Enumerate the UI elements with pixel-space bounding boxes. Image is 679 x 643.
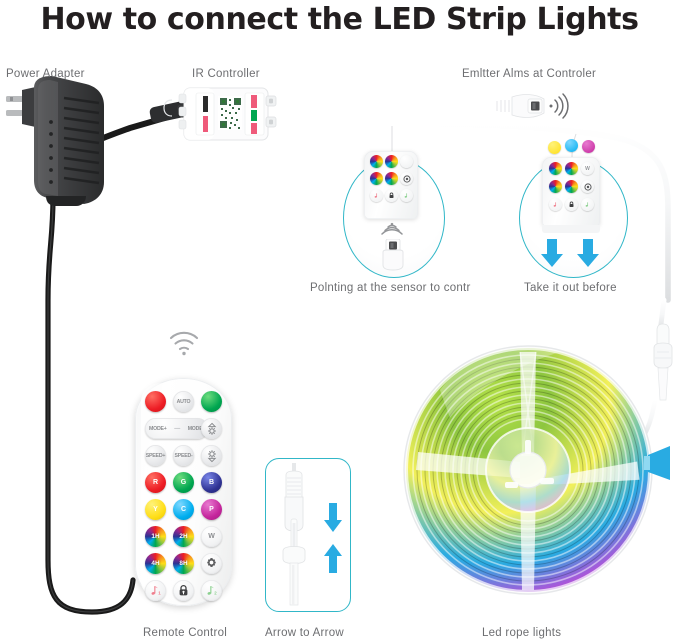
music-2-icon: 2: [205, 584, 218, 597]
ir-receiver-connector-graphic: [497, 94, 568, 118]
timer-2h-button[interactable]: 2H: [173, 526, 194, 547]
mode-pill[interactable]: MODE+ — MODE-: [145, 418, 208, 439]
svg-text:1: 1: [158, 591, 161, 596]
timer-8h-mini: [565, 180, 578, 193]
brightness-down-icon: [205, 449, 219, 463]
timer-8h-mini: [385, 172, 398, 185]
qr-code: [218, 96, 242, 130]
lock-button[interactable]: [173, 580, 194, 601]
settings-button[interactable]: [201, 553, 222, 574]
timer-4h-mini: [370, 172, 383, 185]
lock-icon: [568, 201, 575, 208]
lock-icon: [177, 584, 190, 597]
color-red-button[interactable]: R: [145, 472, 166, 493]
settings-mini: [581, 180, 594, 193]
ir-controller-graphic: [164, 88, 276, 140]
timer-1h-button[interactable]: 1H: [145, 526, 166, 547]
remote-control[interactable]: AUTO MODE+ — MODE- SPEED+ SPEED-: [135, 378, 232, 606]
ir-wave-icon: [380, 221, 404, 239]
label-led-rope-lights: Led rope lights: [482, 627, 561, 639]
music-1-icon: 1: [149, 584, 162, 597]
color-purple-button[interactable]: P: [201, 499, 222, 520]
timer-8h-button[interactable]: 8H: [173, 553, 194, 574]
speed-minus-button[interactable]: SPEED-: [173, 445, 194, 466]
settings-mini: [400, 172, 413, 185]
label-ir-controller: IR Controller: [192, 68, 260, 80]
timer-4h-button[interactable]: 4H: [145, 553, 166, 574]
auto-button[interactable]: AUTO: [173, 391, 194, 412]
label-take-it-out: Take it out before: [524, 282, 617, 294]
mini-remote-bottom: [364, 151, 418, 219]
mode-plus-button[interactable]: MODE+: [149, 426, 167, 432]
battery-tab: [542, 225, 600, 233]
brightness-up-button[interactable]: [201, 418, 222, 439]
music-1-icon: [373, 192, 380, 199]
color-green-button[interactable]: G: [173, 472, 194, 493]
mini-remote-bottom: W: [542, 157, 600, 227]
timer-2h-mini: [565, 162, 578, 175]
svg-text:2: 2: [214, 591, 217, 596]
music-1-mini: [549, 198, 562, 211]
cable-joint-connector: [654, 324, 672, 400]
gear-icon: [403, 175, 411, 183]
down-arrows: [538, 239, 608, 269]
arrow-to-arrow-box: [265, 458, 351, 612]
timer-4h-mini: [549, 180, 562, 193]
arrow-pair: [323, 503, 343, 573]
down-arrow: [324, 503, 342, 532]
music-1-mini: [370, 189, 383, 202]
label-pointing-sensor: Polnting at the sensor to contr: [310, 282, 471, 294]
color-white-mini: [400, 155, 413, 168]
diagram-canvas: How to connect the LED Strip Lights: [0, 0, 679, 643]
color-purple-mini: [582, 140, 595, 153]
music-2-mini: [400, 189, 413, 202]
color-yellow-button[interactable]: Y: [145, 499, 166, 520]
callout-pointing-at-sensor: [343, 158, 445, 278]
gear-icon: [584, 183, 592, 191]
ir-receiver-plug: [380, 239, 406, 271]
color-blue-button[interactable]: B: [201, 472, 222, 493]
power-on-button[interactable]: [145, 391, 166, 412]
label-emitter-alms: Emltter Alms at Controler: [462, 68, 596, 80]
music-mode-1-button[interactable]: 1: [145, 580, 166, 601]
lock-mini: [385, 189, 398, 202]
color-cyan-button[interactable]: C: [173, 499, 194, 520]
callout-take-it-out: W: [519, 158, 628, 278]
color-cyan-mini: [565, 139, 578, 152]
power-off-button[interactable]: [201, 391, 222, 412]
color-white-button[interactable]: W: [201, 526, 222, 547]
music-2-mini: [581, 198, 594, 211]
speed-plus-button[interactable]: SPEED+: [145, 445, 166, 466]
timer-1h-mini: [370, 155, 383, 168]
timer-1h-mini: [549, 162, 562, 175]
power-adapter-graphic: [6, 76, 104, 206]
music-1-icon: [552, 201, 559, 208]
label-arrow-to-arrow: Arrow to Arrow: [265, 627, 344, 639]
label-remote-control: Remote Control: [143, 627, 227, 639]
label-power-adapter: Power Adapter: [6, 68, 85, 80]
connector-pair-graphic: [272, 463, 318, 607]
music-2-icon: [403, 192, 410, 199]
up-arrow: [324, 544, 342, 573]
music-mode-2-button[interactable]: 2: [201, 580, 222, 601]
brightness-up-icon: [205, 422, 219, 436]
color-white-mini: W: [581, 162, 594, 175]
music-2-icon: [584, 201, 591, 208]
gear-icon: [205, 557, 218, 570]
lock-mini: [565, 198, 578, 211]
mode-divider: —: [174, 426, 180, 432]
color-yellow-mini: [548, 141, 561, 154]
timer-2h-mini: [385, 155, 398, 168]
lock-icon: [388, 192, 395, 199]
led-rope-spool-graphic: [404, 346, 670, 594]
brightness-down-button[interactable]: [201, 445, 222, 466]
ir-signal-icon: [168, 330, 200, 356]
